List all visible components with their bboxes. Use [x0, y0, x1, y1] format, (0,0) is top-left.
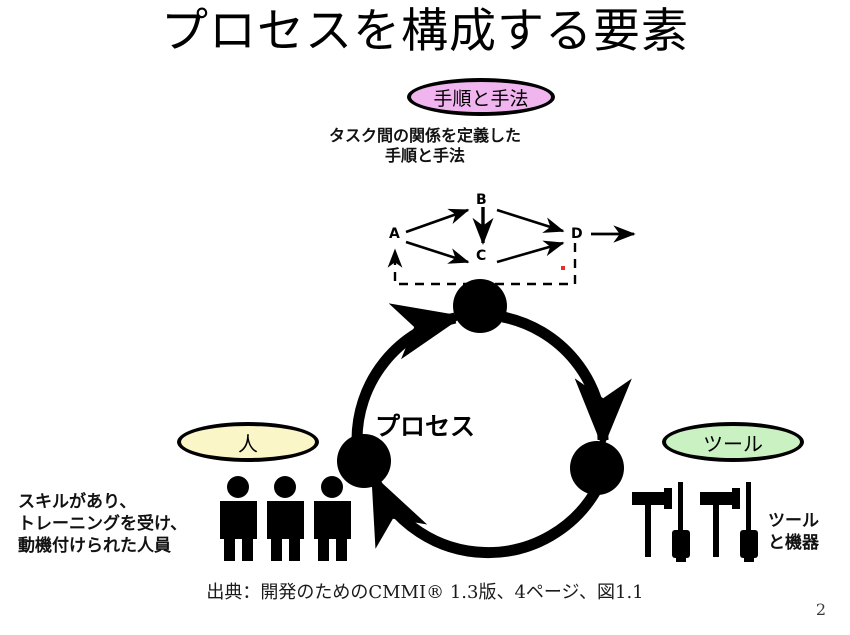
flow-diagram-edges	[395, 207, 634, 284]
tool-icons	[632, 482, 758, 562]
page-number: 2	[816, 600, 826, 619]
person-icon	[267, 476, 304, 561]
person-icon	[220, 476, 257, 561]
flow-node-d: D	[571, 226, 583, 242]
procedure-description: タスク間の関係を定義した 手順と手法	[0, 126, 850, 167]
hammer-icon	[700, 488, 740, 557]
callout-procedure-label: 手順と手法	[433, 84, 528, 111]
people-icons	[220, 476, 351, 561]
drill-icon	[672, 482, 690, 562]
page-title: プロセスを構成する要素	[0, 6, 850, 58]
person-icon	[314, 476, 351, 561]
process-cycle-nodes	[337, 279, 624, 495]
source-citation: 出典：開発のためのCMMI® 1.3版、4ページ、図1.1	[0, 578, 850, 604]
slide-canvas: プロセスを構成する要素	[0, 0, 850, 635]
flow-node-b: B	[476, 192, 487, 208]
cycle-node-bottom-right	[570, 441, 624, 495]
people-description: スキルがあり、 トレーニングを受け、 動機付けられた人員	[18, 492, 187, 557]
flow-node-c: C	[476, 248, 486, 264]
process-cycle-label: プロセス	[0, 407, 850, 443]
tools-description: ツール と機器	[768, 511, 819, 555]
cycle-node-top	[453, 279, 507, 333]
callout-procedure: 手順と手法	[407, 78, 555, 116]
hammer-icon	[632, 488, 672, 557]
drill-icon	[740, 482, 758, 562]
flow-node-a: A	[389, 226, 400, 242]
